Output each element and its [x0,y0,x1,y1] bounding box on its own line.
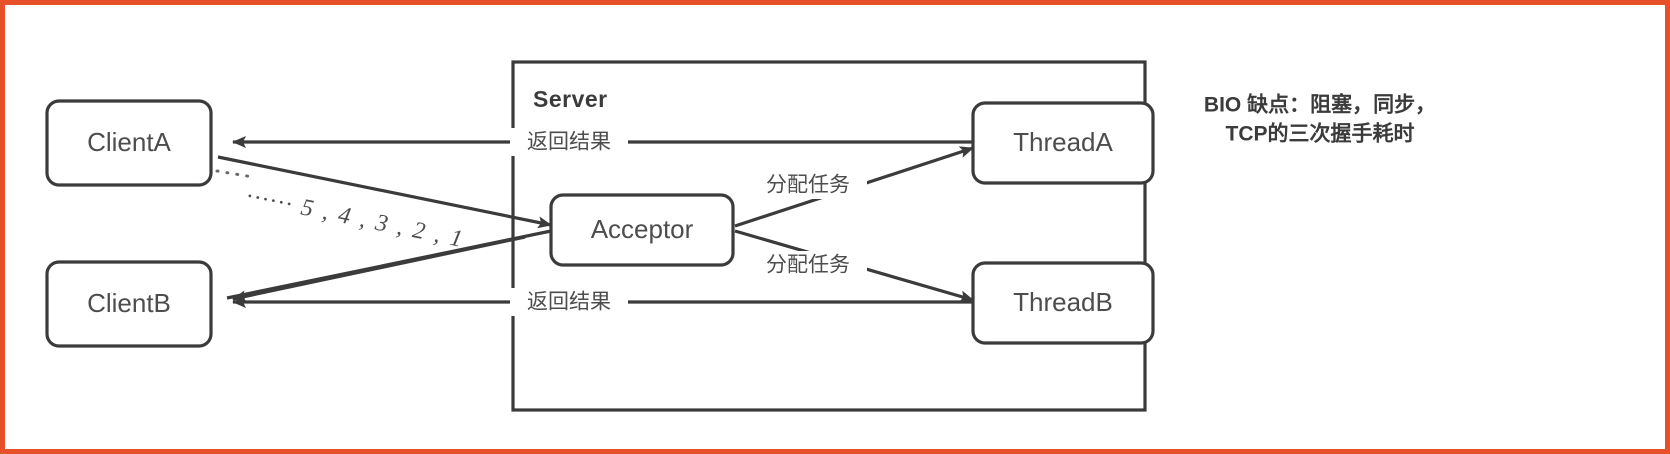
bio-drawback-note: BIO 缺点：阻塞，同步， TCP的三次握手耗时 [1204,93,1436,146]
edge-label-dispatch-a: 分配任务 [766,174,850,197]
node-clientA[interactable]: ClientA [47,101,211,185]
edge-acceptor-to-threadB: 分配任务 [735,231,973,300]
edge-crossing-to-clientB [233,237,525,299]
edge-threadB-to-clientB: 返回结果 [233,288,973,316]
bio-model-diagram: Server 返回结果 返回结果 ······ 5 , 4 , 3 , 2 , … [5,5,1670,454]
edge-clientA-to-acceptor: ······ 5 , 4 , 3 , 2 , 1 [217,157,551,253]
edge-label-dispatch-b: 分配任务 [766,254,850,277]
node-threadB-label: ThreadB [1013,287,1113,317]
diagram-canvas: Server 返回结果 返回结果 ······ 5 , 4 , 3 , 2 , … [0,0,1670,454]
node-clientB[interactable]: ClientB [47,262,211,346]
node-clientB-label: ClientB [87,288,171,318]
edge-acceptor-to-threadA: 分配任务 [735,148,973,226]
node-acceptor-label: Acceptor [591,214,694,244]
node-threadA[interactable]: ThreadA [973,103,1153,183]
edge-line-cross-b [233,237,525,299]
server-group-label: Server [533,86,608,112]
node-clientA-label: ClientA [87,127,171,157]
edge-label-return-b: 返回结果 [527,291,611,314]
edge-label-return-a: 返回结果 [527,131,611,154]
sequence-dots [217,171,253,177]
node-acceptor[interactable]: Acceptor [551,195,733,265]
note-line-2: TCP的三次握手耗时 [1226,122,1415,146]
edge-threadA-to-clientA: 返回结果 [233,128,973,156]
node-threadB[interactable]: ThreadB [973,263,1153,343]
sequence-label: ······ 5 , 4 , 3 , 2 , 1 [244,183,467,253]
node-threadA-label: ThreadA [1013,127,1113,157]
note-line-1: BIO 缺点：阻塞，同步， [1204,93,1436,117]
